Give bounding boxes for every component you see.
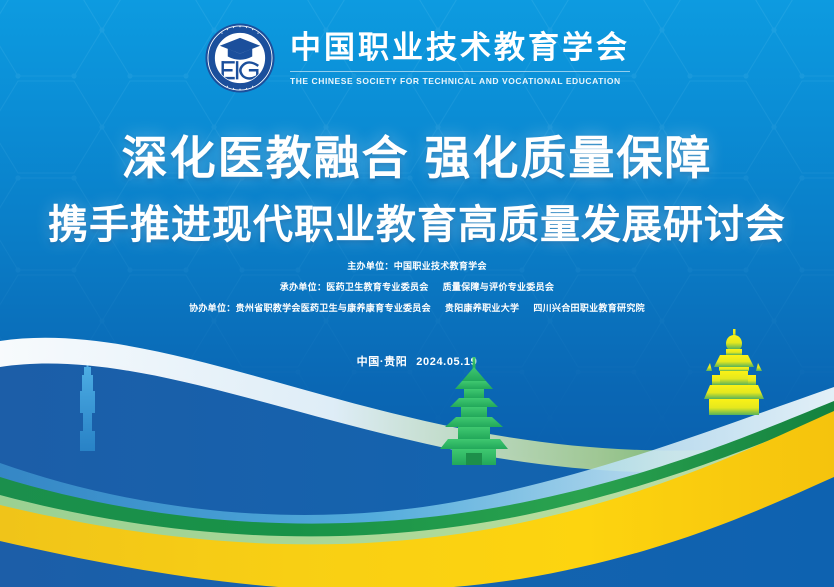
pagoda-silhouette-icon	[440, 357, 508, 465]
dateline-location: 中国·贵阳	[357, 356, 408, 368]
society-header: 中国职业技术教育学会 THE CHINESE SOCIETY FOR TECHN…	[0, 22, 834, 94]
banner-title-main: 深化医教融合 强化质量保障	[0, 122, 834, 188]
jiaxiu-pavilion-silhouette-icon	[704, 329, 764, 415]
credit-org-organizer-1: 质量保障与评价专业委员会	[443, 282, 555, 292]
credit-org-coorganizer-0: 贵州省职教学会医药卫生与康养康育专业委员会	[236, 303, 431, 313]
credit-line-coorganizer: 协办单位：贵州省职教学会医药卫生与康养康育专业委员会贵阳康养职业大学四川兴合田职…	[0, 304, 834, 313]
header-divider	[290, 71, 630, 72]
wave-green	[0, 401, 834, 558]
society-name-block: 中国职业技术教育学会 THE CHINESE SOCIETY FOR TECHN…	[290, 30, 630, 86]
conference-banner: 中国职业技术教育学会 THE CHINESE SOCIETY FOR TECHN…	[0, 0, 834, 587]
banner-title-sub: 携手推进现代职业教育高质量发展研讨会	[0, 192, 834, 250]
credit-label-organizer: 承办单位：	[280, 282, 327, 292]
society-emblem-icon	[204, 22, 276, 94]
banner-dateline: 中国·贵阳2024.05.19	[0, 353, 834, 369]
wave-green-pale	[0, 415, 834, 555]
credit-label-host: 主办单位：	[347, 261, 394, 271]
credit-label-coorganizer: 协办单位：	[189, 303, 236, 313]
broadcast-tower-silhouette-icon	[80, 355, 95, 451]
credit-line-host: 主办单位：中国职业技术教育学会	[0, 262, 834, 271]
dateline-date: 2024.05.19	[416, 356, 477, 368]
society-name-cn: 中国职业技术教育学会	[290, 30, 630, 66]
credit-line-organizer: 承办单位：医药卫生教育专业委员会质量保障与评价专业委员会	[0, 283, 834, 292]
credit-org-coorganizer-2: 四川兴合田职业教育研究院	[533, 303, 645, 313]
credit-org-host-0: 中国职业技术教育学会	[394, 261, 487, 271]
wave-light-blue	[0, 387, 834, 544]
organizer-credits: 主办单位：中国职业技术教育学会 承办单位：医药卫生教育专业委员会质量保障与评价专…	[0, 262, 834, 325]
wave-dark-blue	[0, 360, 834, 587]
credit-org-coorganizer-1: 贵阳康养职业大学	[445, 303, 519, 313]
society-name-en: THE CHINESE SOCIETY FOR TECHNICAL AND VO…	[290, 76, 630, 86]
credit-org-organizer-0: 医药卫生教育专业委员会	[326, 282, 428, 292]
wave-yellow	[0, 411, 834, 587]
